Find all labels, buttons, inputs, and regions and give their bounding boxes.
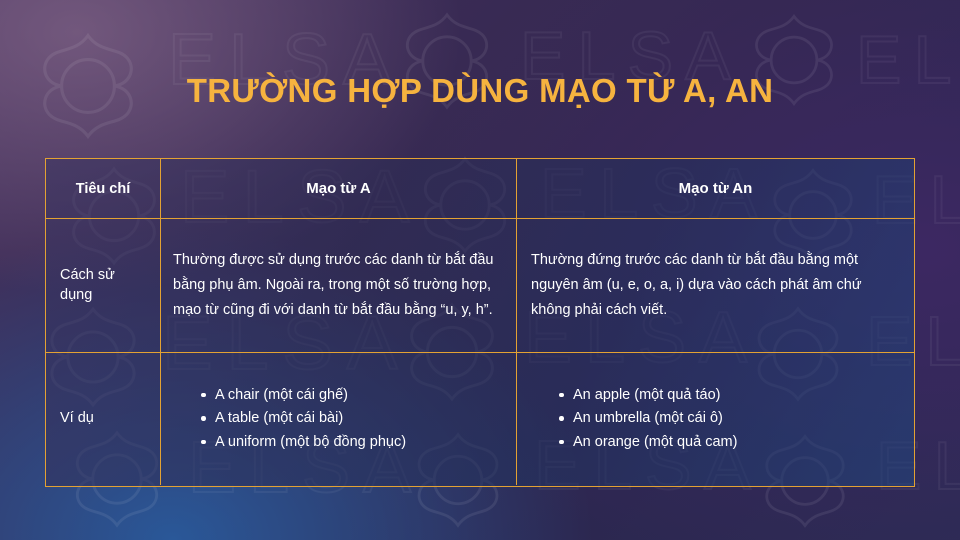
usage-text-article-an: Thường đứng trước các danh từ bắt đầu bằ…	[531, 248, 900, 323]
list-item: An apple (một quả táo)	[559, 384, 900, 407]
examples-cell-article-a: A chair (một cái ghế) A table (một cái b…	[161, 353, 517, 485]
table-row-usage: Cách sử dụng Thường được sử dụng trước c…	[46, 219, 914, 353]
list-item: An umbrella (một cái ô)	[559, 407, 900, 430]
row-label-cell-usage: Cách sử dụng	[46, 219, 161, 352]
list-item: A chair (một cái ghế)	[201, 384, 504, 407]
header-cell-article-an: Mạo từ An	[517, 159, 914, 218]
row-label-cell-examples: Ví dụ	[46, 353, 161, 485]
usage-cell-article-a: Thường được sử dụng trước các danh từ bắ…	[161, 219, 517, 352]
slide-canvas: ELSA ELSA ELSA	[0, 0, 960, 540]
comparison-table: Tiêu chí Mạo từ A Mạo từ An Cách sử dụng…	[45, 158, 915, 487]
examples-cell-article-an: An apple (một quả táo) An umbrella (một …	[517, 353, 914, 485]
list-item: A table (một cái bài)	[201, 407, 504, 430]
list-item: An orange (một quả cam)	[559, 431, 900, 454]
header-cell-criteria: Tiêu chí	[46, 159, 161, 218]
table-header-row: Tiêu chí Mạo từ A Mạo từ An	[46, 159, 914, 219]
row-label-usage: Cách sử dụng	[60, 266, 146, 305]
usage-text-article-a: Thường được sử dụng trước các danh từ bắ…	[173, 248, 504, 323]
row-label-examples: Ví dụ	[60, 409, 146, 429]
header-article-a-label: Mạo từ A	[173, 180, 504, 197]
header-article-an-label: Mạo từ An	[531, 180, 900, 197]
slide-title: TRƯỜNG HỢP DÙNG MẠO TỪ A, AN	[0, 72, 960, 110]
table-row-examples: Ví dụ A chair (một cái ghế) A table (một…	[46, 353, 914, 485]
examples-list-article-an: An apple (một quả táo) An umbrella (một …	[531, 384, 900, 454]
usage-cell-article-an: Thường đứng trước các danh từ bắt đầu bằ…	[517, 219, 914, 352]
list-item: A uniform (một bộ đồng phục)	[201, 431, 504, 454]
header-cell-article-a: Mạo từ A	[161, 159, 517, 218]
examples-list-article-a: A chair (một cái ghế) A table (một cái b…	[173, 384, 504, 454]
header-criteria-label: Tiêu chí	[60, 181, 146, 197]
